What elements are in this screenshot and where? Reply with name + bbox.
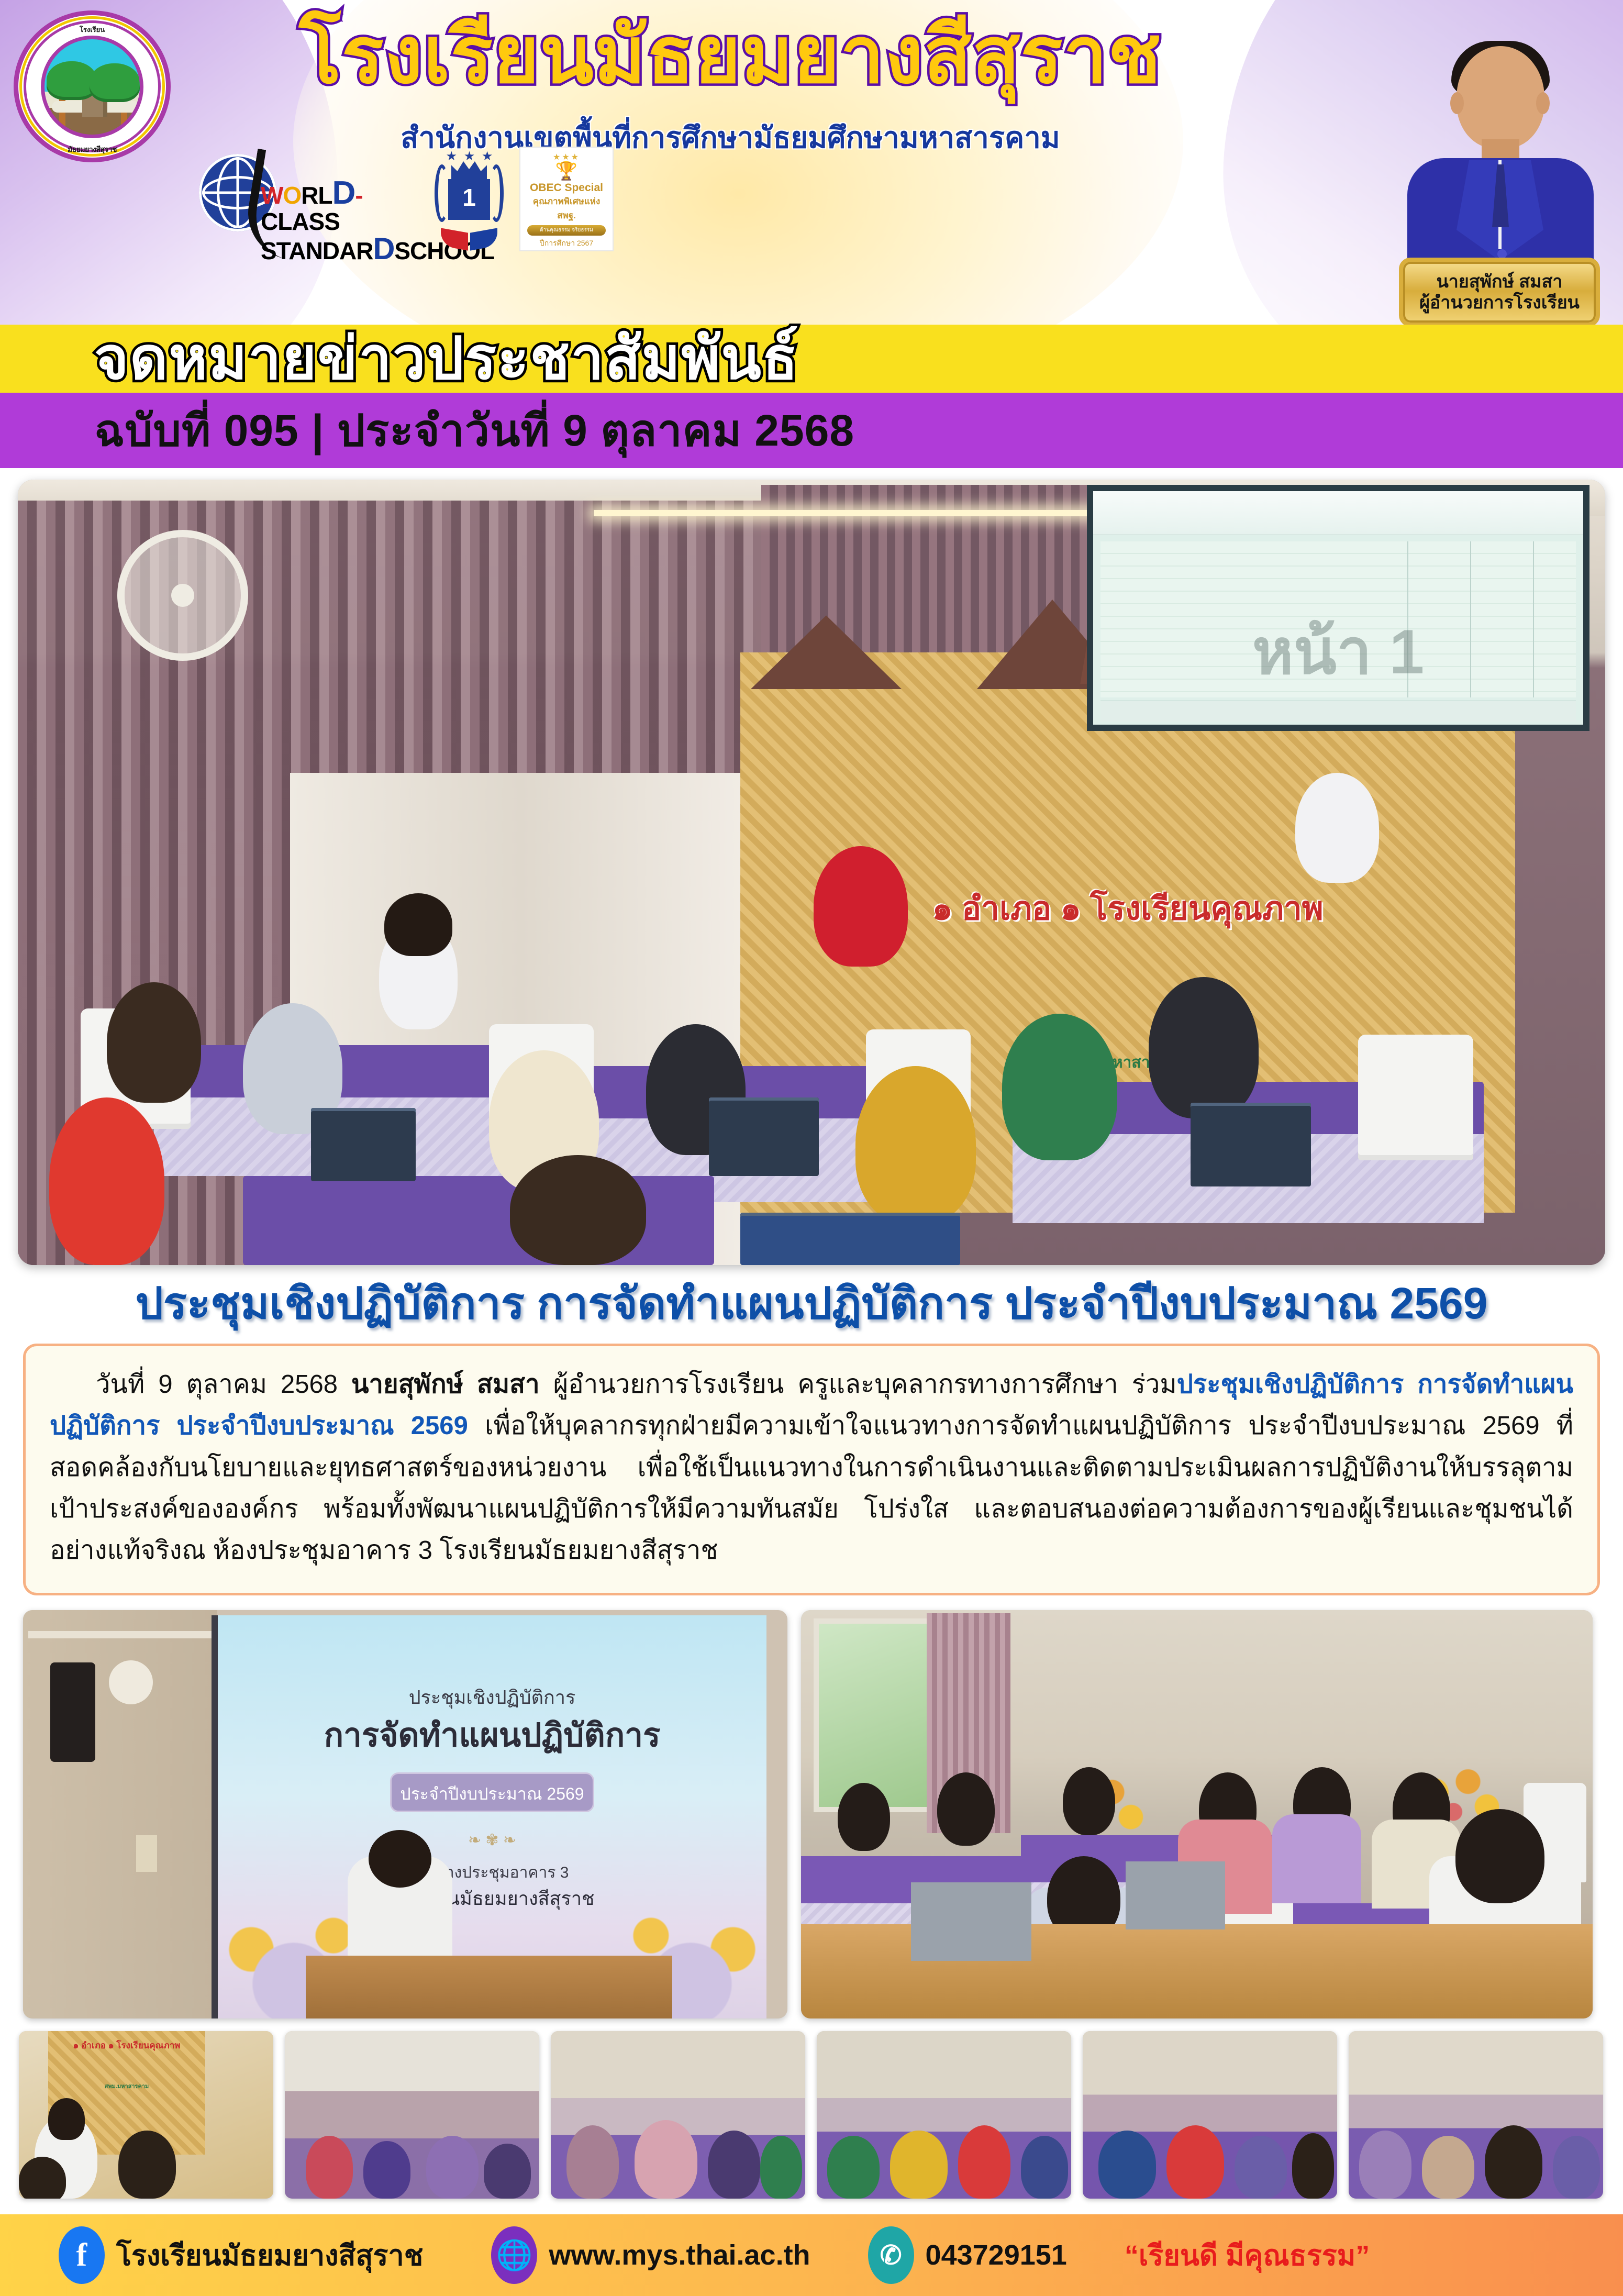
body-seg1: วันที่ 9 ตุลาคม 2568 <box>96 1370 351 1399</box>
crown-stars-icon: ★ ★ ★ <box>445 149 495 164</box>
logo-caption-bottom: มัธยมยางสีสุราช <box>14 144 171 156</box>
accreditation-badges: WORLD-CLASS STANDARDSCHOOL ★ ★ ★ 1 ★★★ <box>199 141 811 251</box>
wcss-rl: RL <box>301 182 332 209</box>
world-class-standard-school-badge: WORLD-CLASS STANDARDSCHOOL <box>199 147 419 251</box>
wcss-o: O <box>283 182 301 209</box>
page-headline: ประชุมเชิงปฏิบัติการ การจัดทำแผนปฏิบัติก… <box>23 1279 1600 1329</box>
footer-slogan: “เรียนดี มีคุณธรรม” <box>1125 2214 1370 2296</box>
facebook-icon: f <box>59 2226 105 2284</box>
newsletter-page: โรงเรียน มัธยมยางสีสุราช โรงเรียนมัธยมยา… <box>0 0 1623 2296</box>
photo-attendees <box>801 1610 1593 2018</box>
photo-pair: ประชุมเชิงปฏิบัติการ การจัดทำแผนปฏิบัติก… <box>23 1610 1600 2018</box>
wcss-class: CLASS <box>261 208 340 235</box>
slide-pill: ประจำปีงบประมาณ 2569 <box>390 1772 594 1812</box>
slide-line1: ประชุมเชิงปฏิบัติการ <box>218 1682 766 1712</box>
body-seg3: ผู้อำนวยการโรงเรียน ครูและบุคลากรทางการศ… <box>540 1370 1177 1399</box>
footer-facebook[interactable]: f โรงเรียนมัธยมยางสีสุราช <box>59 2214 423 2296</box>
thumbnail-6[interactable] <box>1349 2031 1603 2199</box>
article-paragraph: วันที่ 9 ตุลาคม 2568 นายสุพักษ์ สมสา ผู้… <box>50 1364 1573 1572</box>
phone-label: 043729151 <box>926 2239 1067 2271</box>
issue-info-bar: ฉบับที่ 095 | ประจำวันที่ 9 ตุลาคม 2568 <box>0 393 1623 468</box>
thumbnail-5[interactable] <box>1083 2031 1337 2199</box>
access-point-icon <box>109 1660 153 1704</box>
obec-stars-icon: ★★★ <box>523 152 610 162</box>
thumbnail-2[interactable] <box>285 2031 539 2199</box>
slide-line3: ณ ห้องประชุมอาคาร 3 <box>218 1860 766 1885</box>
thumbnail-strip: ๑ อำเภอ ๑ โรงเรียนคุณภาพ สพม.มหาสารคาม <box>19 2031 1604 2199</box>
thumb1-board-text: ๑ อำเภอ ๑ โรงเรียนคุณภาพ <box>48 2038 205 2053</box>
logo-caption-top: โรงเรียน <box>14 24 171 35</box>
globe-icon: 🌐 <box>491 2226 537 2284</box>
thumb1-board-sub: สพม.มหาสารคาม <box>48 2081 205 2091</box>
newsletter-title: จดหมายข่าวประชาสัมพันธ์ <box>94 329 799 388</box>
obec-year: ปีการศึกษา 2567 <box>523 238 610 249</box>
crown-icon <box>451 161 487 179</box>
newsletter-title-bar: จดหมายข่าวประชาสัมพันธ์ <box>0 325 1623 393</box>
body-director-name: นายสุพักษ์ สมสา <box>351 1370 540 1399</box>
thumbnail-4[interactable] <box>817 2031 1071 2199</box>
wall-fan <box>117 530 248 661</box>
footer-website[interactable]: 🌐 www.mys.thai.ac.th <box>491 2214 810 2296</box>
facebook-label: โรงเรียนมัธยมยางสีสุราช <box>116 2233 423 2278</box>
website-label: www.mys.thai.ac.th <box>549 2239 810 2271</box>
director-name: นายสุพักษ์ สมสา <box>1437 271 1563 292</box>
crown-number: 1 <box>448 183 490 212</box>
school-name: โรงเรียนมัธยมยางสีสุราช <box>173 5 1288 105</box>
obec-title-en: OBEC Special <box>523 182 610 194</box>
obec-special-badge: ★★★ 🏆 OBEC Special คุณภาพพิเศษแห่ง สพฐ. … <box>519 147 614 251</box>
laurel-left-icon <box>435 164 449 222</box>
photo-presentation: ประชุมเชิงปฏิบัติการ การจัดทำแผนปฏิบัติก… <box>23 1610 787 2018</box>
screen-watermark: หน้า 1 <box>1093 601 1583 701</box>
trophy-icon: 🏆 <box>523 162 610 180</box>
hero-photo: ๑ อำเภอ ๑ โรงเรียนคุณภาพ สพม.มหาสารคาม ห… <box>18 480 1605 1265</box>
wcss-dash: - <box>355 182 362 209</box>
director-nameplate: นายสุพักษ์ สมสา ผู้อำนวยการโรงเรียน <box>1399 258 1600 325</box>
slide-ornament: ❧ ✾ ❧ <box>218 1831 766 1849</box>
logo-emblem <box>41 36 143 138</box>
footer-bar: f โรงเรียนมัธยมยางสีสุราช 🌐 www.mys.thai… <box>0 2214 1623 2296</box>
book-icon <box>441 230 497 248</box>
wcss-w: W <box>261 182 283 209</box>
obec-pill-label: ด้านคุณธรรม จริยธรรม <box>527 225 606 236</box>
wcss-d2: D <box>373 232 394 266</box>
director-head <box>1457 46 1544 149</box>
thumbnail-1[interactable]: ๑ อำเภอ ๑ โรงเรียนคุณภาพ สพม.มหาสารคาม <box>19 2031 273 2199</box>
footer-phone[interactable]: ✆ 043729151 <box>868 2214 1067 2296</box>
school-logo: โรงเรียน มัธยมยางสีสุราช <box>14 10 171 162</box>
obec-title-th: คุณภาพพิเศษแห่ง สพฐ. <box>523 194 610 223</box>
director-position: ผู้อำนวยการโรงเรียน <box>1419 292 1580 313</box>
issue-info: ฉบับที่ 095 | ประจำวันที่ 9 ตุลาคม 2568 <box>94 408 854 452</box>
slide-line4: โรงเรียนมัธยมยางสีสุราช <box>218 1883 766 1913</box>
crown-award-badge: ★ ★ ★ 1 <box>427 147 511 251</box>
slogan-label: “เรียนดี มีคุณธรรม” <box>1125 2233 1370 2278</box>
slide-line2: การจัดทำแผนปฏิบัติการ <box>218 1710 766 1761</box>
wcss-d: D <box>332 175 355 211</box>
projection-screen: หน้า 1 <box>1087 485 1589 731</box>
header-banner: โรงเรียน มัธยมยางสีสุราช โรงเรียนมัธยมยา… <box>0 0 1623 325</box>
article-body-box: วันที่ 9 ตุลาคม 2568 นายสุพักษ์ สมสา ผู้… <box>23 1344 1600 1595</box>
phone-icon: ✆ <box>868 2226 914 2284</box>
thumbnail-3[interactable] <box>551 2031 805 2199</box>
wcss-standar: STANDAR <box>261 237 373 264</box>
laurel-right-icon <box>489 164 504 222</box>
projector-device <box>50 1662 95 1762</box>
